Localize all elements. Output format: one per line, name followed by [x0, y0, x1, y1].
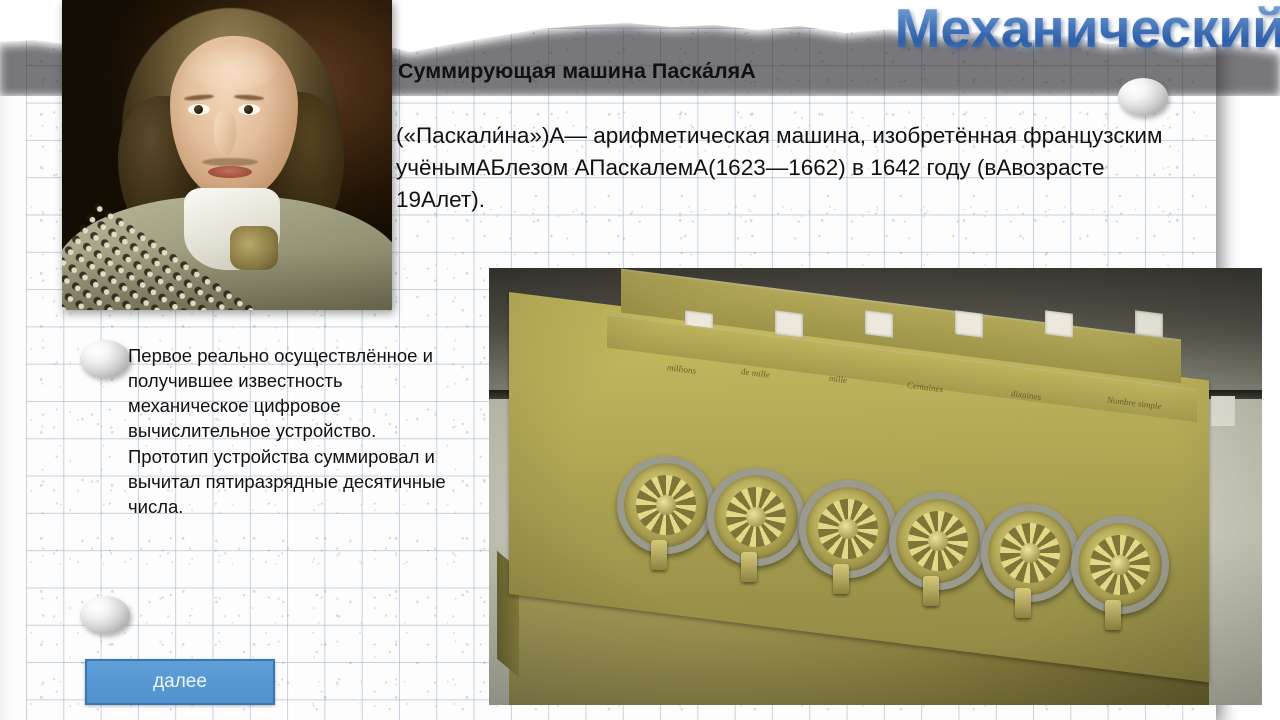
- next-button[interactable]: далее: [85, 659, 275, 705]
- portrait-pupil-left: [194, 105, 203, 114]
- portrait-pupil-right: [244, 105, 253, 114]
- side-description-text: Первое реально осуществлённое и получивш…: [128, 343, 446, 519]
- portrait-forehead-highlight: [186, 44, 278, 90]
- machine-photo-vignette: [489, 268, 1262, 705]
- portrait-lace-ornament: [230, 226, 278, 270]
- portrait-mouth: [208, 166, 252, 178]
- slide-canvas: millions de mille mille Centaines dixain…: [0, 0, 1280, 720]
- slide-heading: Механический: [895, 0, 1280, 60]
- pascal-portrait-image: [62, 0, 392, 310]
- sphere-bullet-icon: [80, 596, 130, 634]
- portrait-moustache: [202, 158, 258, 166]
- portrait-nose: [214, 110, 236, 156]
- sphere-bullet-icon: [80, 340, 130, 378]
- pascaline-machine-image: millions de mille mille Centaines dixain…: [489, 268, 1262, 705]
- body-paragraph: («Паскали́на»)А— арифметическая машина, …: [396, 120, 1186, 216]
- paper-left-margin: [0, 28, 26, 720]
- sphere-bullet-icon: [1118, 78, 1168, 116]
- body-title: Суммирующая машина Паска́ляА: [398, 58, 1038, 85]
